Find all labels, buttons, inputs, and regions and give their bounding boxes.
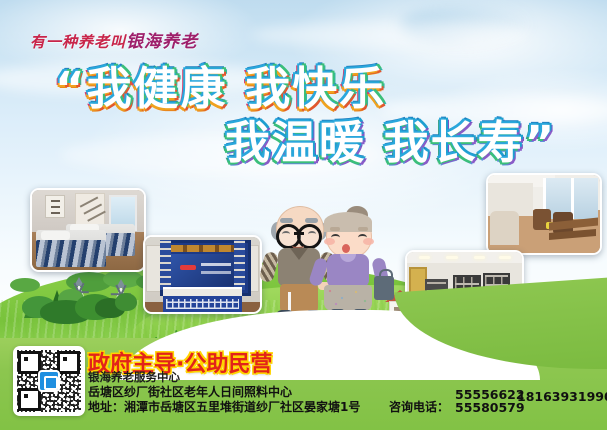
address-line: 地址：湘潭市岳塘区五里堆街道纱厂社区晏家塘1号 — [88, 398, 360, 415]
qr-finder-icon — [18, 351, 41, 374]
poster-root: 有一种养老叫银海养老 “我健康 我快乐 我温暖 我长寿” — [0, 0, 607, 430]
qr-finder-icon — [18, 388, 41, 411]
main-slogan: “我健康 我快乐 我温暖 我长寿” — [0, 48, 607, 163]
telephone-label: 咨询电话： — [389, 398, 449, 415]
telephone-number-2: 55580579 — [455, 402, 525, 415]
bush — [115, 293, 137, 311]
slogan-line-2: 我温暖 我长寿” — [225, 106, 556, 171]
telephone-landline-numbers: 55556622 55580579 — [455, 389, 525, 414]
conference-stage-photo — [143, 235, 262, 314]
telephone-mobile-number: 18163931990 — [517, 389, 607, 404]
cartoon-grandma — [320, 210, 378, 324]
shrub — [10, 278, 40, 292]
cloud-band — [250, 22, 530, 48]
qr-code[interactable] — [13, 346, 85, 416]
hallway-lounge-photo — [486, 173, 602, 255]
cartoon-elderly-couple — [270, 196, 380, 324]
qr-finder-icon — [57, 351, 80, 374]
handbag-icon — [374, 276, 394, 300]
qr-center-logo-icon — [38, 370, 60, 392]
bedroom-photo — [30, 188, 146, 272]
